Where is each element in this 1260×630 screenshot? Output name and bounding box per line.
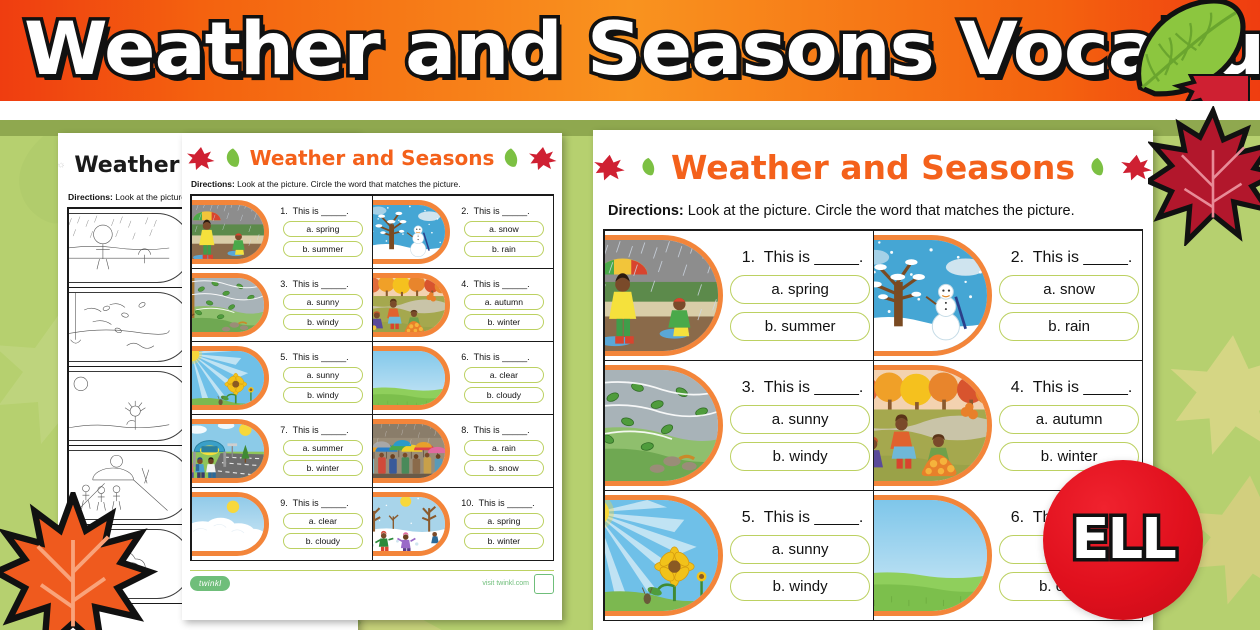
directions-label: Directions: <box>68 192 113 202</box>
question-sentence: This is _____. <box>474 352 530 362</box>
question-prompt: 1. This is _____. <box>742 249 864 267</box>
scene-autumn-leaf-piles-children <box>373 278 446 332</box>
question-prompt: 7. This is _____. <box>280 425 348 435</box>
question-sentence: This is _____. <box>293 352 349 362</box>
picture-frame <box>605 365 723 486</box>
question-picture <box>192 269 275 341</box>
picture-frame <box>874 495 992 616</box>
scene-cloudy-sky-outline <box>69 530 191 598</box>
picture-frame <box>192 273 270 337</box>
option-a[interactable]: a. spring <box>730 275 870 304</box>
question-prompt: 5. This is _____. <box>742 509 864 527</box>
question-cell[interactable]: 1. This is _____.a. springb. summer <box>604 230 874 361</box>
scene-rain-children-umbrella <box>605 240 718 351</box>
option-a[interactable]: a. sunny <box>730 405 870 434</box>
question-sentence: This is _____. <box>764 379 864 396</box>
option-a[interactable]: a. sunny <box>283 367 363 383</box>
option-a[interactable]: a. rain <box>464 440 544 456</box>
scene-sun-rays-sunflower <box>192 351 265 405</box>
question-picture <box>192 342 275 414</box>
option-b[interactable]: b. cloudy <box>464 387 544 403</box>
question-text-block: 9. This is _____.a. clearb. cloudy <box>274 488 371 560</box>
option-b[interactable]: b. rain <box>999 312 1139 341</box>
scene-rain-children-umbrella <box>192 205 265 259</box>
question-number: 1. <box>742 249 755 266</box>
maple-leaf-icon <box>528 145 558 171</box>
question-prompt: 3. This is _____. <box>742 379 864 397</box>
question-picture <box>605 361 728 490</box>
maple-leaf-icon <box>1120 144 1153 190</box>
worksheet-header: Weather and Seasons <box>593 144 1153 190</box>
question-prompt: 6. This is _____. <box>461 352 529 362</box>
picture-frame <box>373 200 451 264</box>
question-text-block: 4. This is _____.a. autumnb. winter <box>455 269 552 341</box>
question-prompt: 5. This is _____. <box>280 352 348 362</box>
question-picture <box>373 196 456 268</box>
option-b[interactable]: b. windy <box>730 572 870 601</box>
question-sentence: This is _____. <box>479 498 535 508</box>
question-number: 5. <box>280 352 288 362</box>
picture-frame <box>605 495 723 616</box>
leaf-icon <box>640 150 657 184</box>
question-cell[interactable]: 1. This is _____.a. springb. summer <box>191 195 373 269</box>
question-cell[interactable]: 3. This is _____.a. sunnyb. windy <box>191 268 373 342</box>
question-cell[interactable]: 8. This is _____.a. rainb. snow <box>372 414 554 488</box>
question-text-block: 2. This is _____.a. snowb. rain <box>997 231 1142 360</box>
picture-frame <box>373 273 451 337</box>
question-picture <box>605 491 728 620</box>
question-cell[interactable]: 6. This is _____.a. clearb. cloudy <box>372 341 554 415</box>
question-picture <box>69 525 197 603</box>
question-sentence: This is _____. <box>1033 379 1133 396</box>
maple-leaf-icon <box>58 147 64 183</box>
question-prompt: 9. This is _____. <box>280 498 348 508</box>
question-prompt: 4. This is _____. <box>1011 379 1133 397</box>
picture-frame <box>373 419 451 483</box>
question-number: 1. <box>280 206 288 216</box>
question-picture <box>69 367 197 445</box>
option-b[interactable]: b. summer <box>283 241 363 257</box>
question-number: 6. <box>1011 509 1024 526</box>
option-a[interactable]: a. sunny <box>730 535 870 564</box>
question-text-block: 10. This is _____.a. springb. winter <box>455 488 552 560</box>
picture-frame <box>192 492 270 556</box>
question-cell[interactable]: 2. This is _____.a. snowb. rain <box>372 195 554 269</box>
scene-clear-sky-green-field <box>874 500 987 611</box>
question-picture <box>605 231 728 360</box>
question-sentence: This is _____. <box>293 279 349 289</box>
question-sentence: This is _____. <box>293 425 349 435</box>
picture-frame <box>373 346 451 410</box>
question-picture <box>373 488 456 560</box>
twinkl-logo[interactable]: twinkl <box>190 576 230 591</box>
question-number: 10. <box>461 498 474 508</box>
question-prompt: 4. This is _____. <box>461 279 529 289</box>
question-picture <box>69 288 197 366</box>
question-text-block: 3. This is _____.a. sunnyb. windy <box>728 361 873 490</box>
picture-frame <box>69 213 192 283</box>
picture-frame <box>373 492 451 556</box>
question-text-block: 1. This is _____.a. springb. summer <box>728 231 873 360</box>
option-a[interactable]: a. autumn <box>999 405 1139 434</box>
maple-leaf-icon <box>593 144 626 190</box>
picture-frame <box>69 292 192 362</box>
option-b[interactable]: b. winter <box>464 533 544 549</box>
question-number: 2. <box>461 206 469 216</box>
picture-frame <box>69 529 192 599</box>
question-sentence: This is _____. <box>293 206 349 216</box>
option-a[interactable]: a. snow <box>999 275 1139 304</box>
screenshot-stage: Weather and Seasons Directions: Look at … <box>0 0 1260 630</box>
option-a[interactable]: a. spring <box>283 221 363 237</box>
scene-rain-children-umbrella-outline <box>69 214 191 282</box>
question-picture <box>192 196 275 268</box>
question-picture <box>373 269 456 341</box>
question-grid-middle: 1. This is _____.a. springb. summer 2. T… <box>190 194 554 561</box>
question-number: 3. <box>280 279 288 289</box>
maple-leaf-icon <box>186 145 216 171</box>
option-a[interactable]: a. clear <box>283 513 363 529</box>
worksheet-directions: Directions: Look at the picture. Circle … <box>191 179 562 189</box>
picture-frame <box>874 365 992 486</box>
ell-badge-label: ELL <box>1071 512 1175 568</box>
question-picture <box>874 491 997 620</box>
question-sentence: This is _____. <box>474 425 530 435</box>
question-number: 9. <box>280 498 288 508</box>
ell-badge[interactable]: ELL <box>1043 460 1203 620</box>
question-number: 8. <box>461 425 469 435</box>
option-b[interactable]: b. cloudy <box>283 533 363 549</box>
picture-frame <box>605 235 723 356</box>
question-text-block: 1. This is _____.a. springb. summer <box>274 196 371 268</box>
option-a[interactable]: a. spring <box>464 513 544 529</box>
directions-text: Look at the picture. Circle the word tha… <box>237 179 460 189</box>
question-picture <box>192 488 275 560</box>
option-a[interactable]: a. clear <box>464 367 544 383</box>
question-sentence: This is _____. <box>293 498 349 508</box>
scene-autumn-leaf-piles-children <box>874 370 987 481</box>
question-prompt: 1. This is _____. <box>280 206 348 216</box>
directions-label: Directions: <box>608 203 684 219</box>
question-number: 7. <box>280 425 288 435</box>
question-picture <box>192 415 275 487</box>
directions-label: Directions: <box>191 179 235 189</box>
worksheet-header: Weather and Seasons <box>182 145 562 171</box>
worksheet-title: Weather and Seasons <box>250 146 495 170</box>
scene-sun-rays-sunflower <box>605 500 718 611</box>
picture-frame <box>192 200 270 264</box>
scene-crowd-umbrellas-rain <box>373 424 446 478</box>
leaf-icon <box>224 147 242 169</box>
question-cell[interactable]: 10. This is _____.a. springb. winter <box>372 487 554 561</box>
question-text-block: 5. This is _____.a. sunnyb. windy <box>728 491 873 620</box>
question-cell[interactable]: 7. This is _____.a. summerb. winter <box>191 414 373 488</box>
scene-snowy-tree-snowman <box>874 240 987 351</box>
scene-sun-rays-sunflower-outline <box>69 372 191 440</box>
picture-frame <box>69 450 192 520</box>
picture-frame <box>192 419 270 483</box>
question-prompt: 8. This is _____. <box>461 425 529 435</box>
question-picture <box>69 446 197 524</box>
option-b[interactable]: b. summer <box>730 312 870 341</box>
option-b[interactable]: b. rain <box>464 241 544 257</box>
question-sentence: This is _____. <box>764 509 864 526</box>
question-prompt: 2. This is _____. <box>1011 249 1133 267</box>
question-text-block: 8. This is _____.a. rainb. snow <box>455 415 552 487</box>
question-cell[interactable]: 9. This is _____.a. clearb. cloudy <box>191 487 373 561</box>
scene-summer-park-children <box>192 424 265 478</box>
red-maple-leaf-icon <box>1160 74 1250 101</box>
question-picture <box>373 415 456 487</box>
question-cell[interactable]: 3. This is _____.a. sunnyb. windy <box>604 360 874 491</box>
scene-windy-leaves-tree-outline <box>69 293 191 361</box>
question-prompt: 3. This is _____. <box>280 279 348 289</box>
white-separator-strip <box>0 101 1260 120</box>
banner-title: Weather and Seasons Vocabulary <box>24 8 1260 92</box>
question-text-block: 3. This is _____.a. sunnyb. windy <box>274 269 371 341</box>
question-text-block: 2. This is _____.a. snowb. rain <box>455 196 552 268</box>
question-prompt: 10. This is _____. <box>461 498 534 508</box>
leaf-icon <box>1089 150 1106 184</box>
option-a[interactable]: a. summer <box>283 440 363 456</box>
question-text-block: 7. This is _____.a. summerb. winter <box>274 415 371 487</box>
option-b[interactable]: b. snow <box>464 460 544 476</box>
question-text-block: 6. This is _____.a. clearb. cloudy <box>455 342 552 414</box>
scene-clear-sky-green-field <box>373 351 446 405</box>
scene-winter-children-playing <box>373 497 446 551</box>
question-cell[interactable]: 5. This is _____.a. sunnyb. windy <box>604 490 874 621</box>
question-number: 4. <box>1011 379 1024 396</box>
scene-cloudy-sky-sun <box>192 497 265 551</box>
question-number: 4. <box>461 279 469 289</box>
picture-frame <box>192 346 270 410</box>
question-sentence: This is _____. <box>1033 249 1133 266</box>
question-number: 5. <box>742 509 755 526</box>
question-picture <box>874 231 997 360</box>
question-number: 3. <box>742 379 755 396</box>
worksheet-footer: twinkl visit twinkl.com <box>190 570 554 596</box>
option-b[interactable]: b. windy <box>283 387 363 403</box>
option-b[interactable]: b. winter <box>283 460 363 476</box>
question-text-block: 5. This is _____.a. sunnyb. windy <box>274 342 371 414</box>
picture-frame <box>69 371 192 441</box>
scene-windy-leaves-tree <box>192 278 265 332</box>
option-a[interactable]: a. snow <box>464 221 544 237</box>
question-cell[interactable]: 5. This is _____.a. sunnyb. windy <box>191 341 373 415</box>
background-leaf-icon <box>1168 330 1260 460</box>
question-sentence: This is _____. <box>474 206 530 216</box>
page-banner: Weather and Seasons Vocabulary <box>0 0 1260 101</box>
worksheet-title: Weather and Seasons <box>671 148 1075 187</box>
option-b[interactable]: b. winter <box>464 314 544 330</box>
question-picture <box>69 209 197 287</box>
option-b[interactable]: b. windy <box>730 442 870 471</box>
question-number: 6. <box>461 352 469 362</box>
option-a[interactable]: a. autumn <box>464 294 544 310</box>
option-a[interactable]: a. sunny <box>283 294 363 310</box>
question-sentence: This is _____. <box>474 279 530 289</box>
twinkl-stamp-icon <box>534 574 554 594</box>
directions-text: Look at the picture. Circle the word tha… <box>688 203 1075 219</box>
option-b[interactable]: b. windy <box>283 314 363 330</box>
worksheet-directions: Directions: Look at the picture. Circle … <box>608 203 1153 219</box>
worksheet-sheet-middle[interactable]: Weather and Seasons Directions: Look at … <box>182 133 562 620</box>
twinkl-url[interactable]: visit twinkl.com <box>482 580 529 587</box>
scene-snowy-tree-snowman <box>373 205 446 259</box>
scene-summer-park-children-outline <box>69 451 191 519</box>
question-cell[interactable]: 2. This is _____.a. snowb. rain <box>873 230 1143 361</box>
question-cell[interactable]: 4. This is _____.a. autumnb. winter <box>372 268 554 342</box>
question-picture <box>874 361 997 490</box>
scene-windy-leaves-tree <box>605 370 718 481</box>
question-picture <box>373 342 456 414</box>
leaf-icon <box>502 147 520 169</box>
picture-frame <box>874 235 992 356</box>
question-prompt: 2. This is _____. <box>461 206 529 216</box>
question-number: 2. <box>1011 249 1024 266</box>
question-sentence: This is _____. <box>764 249 864 266</box>
